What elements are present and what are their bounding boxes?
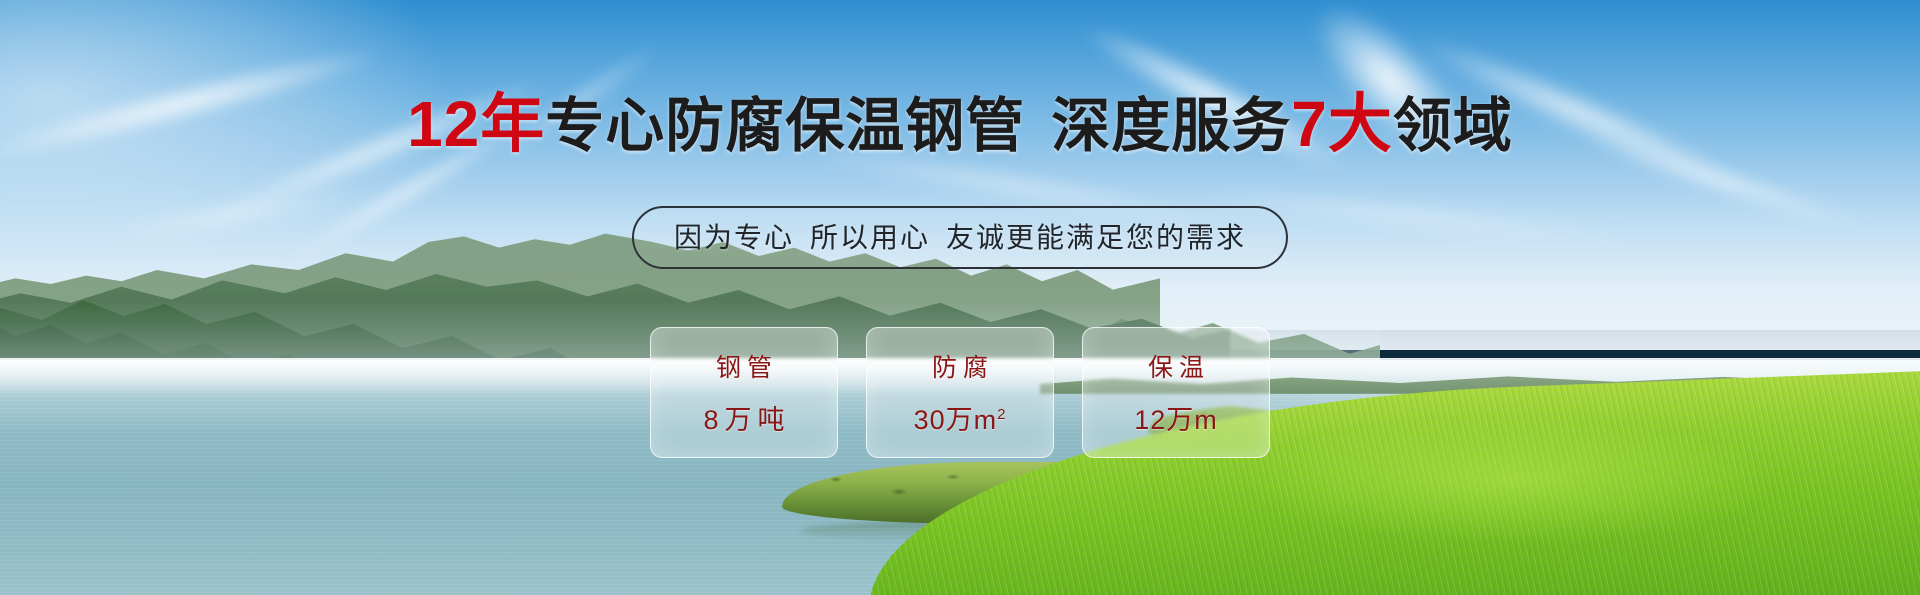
stat-card-value-superscript: 2 bbox=[997, 406, 1006, 423]
stat-card-title: 钢管 bbox=[710, 348, 778, 384]
stat-card-title: 保温 bbox=[1142, 348, 1210, 384]
headline-segment-service: 深度服务 bbox=[1051, 93, 1291, 159]
stat-card-title: 防腐 bbox=[926, 348, 994, 384]
banner-headline: 12年专心防腐保温钢管深度服务7大领域 bbox=[0, 92, 1920, 157]
hero-banner: 12年专心防腐保温钢管深度服务7大领域 因为专心所以用心友诚更能满足您的需求 钢… bbox=[0, 0, 1920, 595]
headline-segment-fields: 领域 bbox=[1393, 93, 1513, 159]
stat-card-group: 钢管 8万吨 防腐 30万m2 保温 12万m bbox=[650, 327, 1270, 458]
banner-subtitle-pill: 因为专心所以用心友诚更能满足您的需求 bbox=[632, 206, 1288, 269]
stat-card-steel-pipe[interactable]: 钢管 8万吨 bbox=[650, 327, 838, 458]
subtitle-part-1: 因为专心 bbox=[674, 222, 794, 253]
headline-segment-specialty: 专心防腐保温钢管 bbox=[545, 93, 1025, 159]
stat-card-insulation[interactable]: 保温 12万m bbox=[1082, 327, 1270, 458]
stat-card-value-text: 30万m bbox=[914, 405, 998, 435]
headline-years-highlight: 12年 bbox=[407, 88, 545, 160]
stat-card-value: 8万吨 bbox=[697, 398, 790, 437]
subtitle-part-2: 所以用心 bbox=[810, 222, 930, 253]
stat-card-value: 30万m2 bbox=[914, 398, 1007, 437]
headline-fields-highlight: 7大 bbox=[1291, 88, 1393, 160]
stat-card-anticorrosion[interactable]: 防腐 30万m2 bbox=[866, 327, 1054, 458]
stat-card-value: 12万m bbox=[1134, 398, 1218, 437]
subtitle-part-3: 友诚更能满足您的需求 bbox=[946, 222, 1246, 253]
